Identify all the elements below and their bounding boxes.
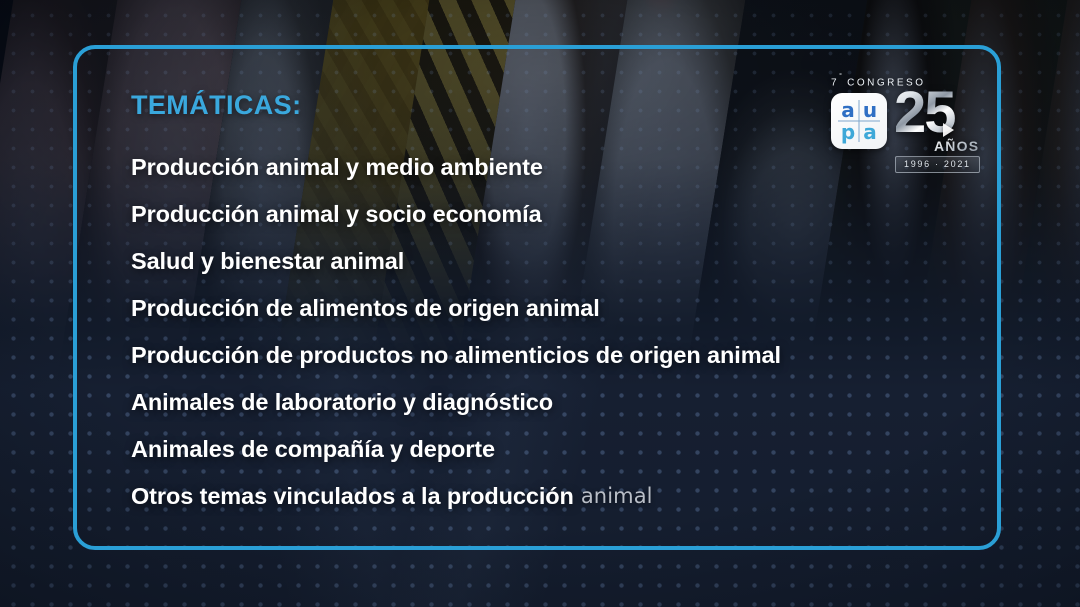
congress-ordinal-mark: ° <box>839 73 842 80</box>
topic-label: Animales de laboratorio y diagnóstico <box>131 391 553 415</box>
topics-list: Producción animal y medio ambiente Produ… <box>131 144 891 520</box>
list-item: Producción animal y socio economía <box>131 191 891 238</box>
topic-label: Producción de alimentos de origen animal <box>131 297 600 321</box>
topics-panel: TEMÁTICAS: Producción animal y medio amb… <box>131 92 891 520</box>
aupa-letter-a2: a <box>859 121 881 143</box>
topic-label: Otros temas vinculados a la producción <box>131 485 574 509</box>
list-item: Animales de laboratorio y diagnóstico <box>131 379 891 426</box>
congress-number: 7 <box>831 77 839 88</box>
list-item: Otros temas vinculados a la producción a… <box>131 473 891 520</box>
aupa-logo-tile: a u p a <box>831 93 887 149</box>
aupa-letter-u: u <box>859 99 881 121</box>
slide-canvas: TEMÁTICAS: Producción animal y medio amb… <box>0 0 1080 607</box>
list-item: Salud y bienestar animal <box>131 238 891 285</box>
list-item: Producción de productos no alimenticios … <box>131 332 891 379</box>
topic-label: Salud y bienestar animal <box>131 250 404 274</box>
anniversary-badge: 25 AÑOS 1996 · 2021 <box>894 84 976 170</box>
aupa-divider-horizontal <box>838 121 880 122</box>
topic-label: Producción animal y medio ambiente <box>131 156 543 180</box>
anniversary-word: AÑOS <box>934 138 979 154</box>
list-item: Animales de compañía y deporte <box>131 426 891 473</box>
list-item: Producción animal y medio ambiente <box>131 144 891 191</box>
topic-label: Animales de compañía y deporte <box>131 438 495 462</box>
aupa-letter-a1: a <box>837 99 859 121</box>
congress-logo-lockup: 7° CONGRESO a u p a 25 AÑOS 1996 · 2021 <box>826 76 976 176</box>
caption-overlay-word: animal <box>581 486 653 507</box>
play-triangle-icon <box>943 123 954 137</box>
topic-label: Producción de productos no alimenticios … <box>131 344 781 368</box>
topic-label: Producción animal y socio economía <box>131 203 542 227</box>
anniversary-years-range: 1996 · 2021 <box>895 156 980 173</box>
list-item: Producción de alimentos de origen animal <box>131 285 891 332</box>
aupa-letter-p: p <box>837 121 859 143</box>
page-title: TEMÁTICAS: <box>131 92 891 119</box>
